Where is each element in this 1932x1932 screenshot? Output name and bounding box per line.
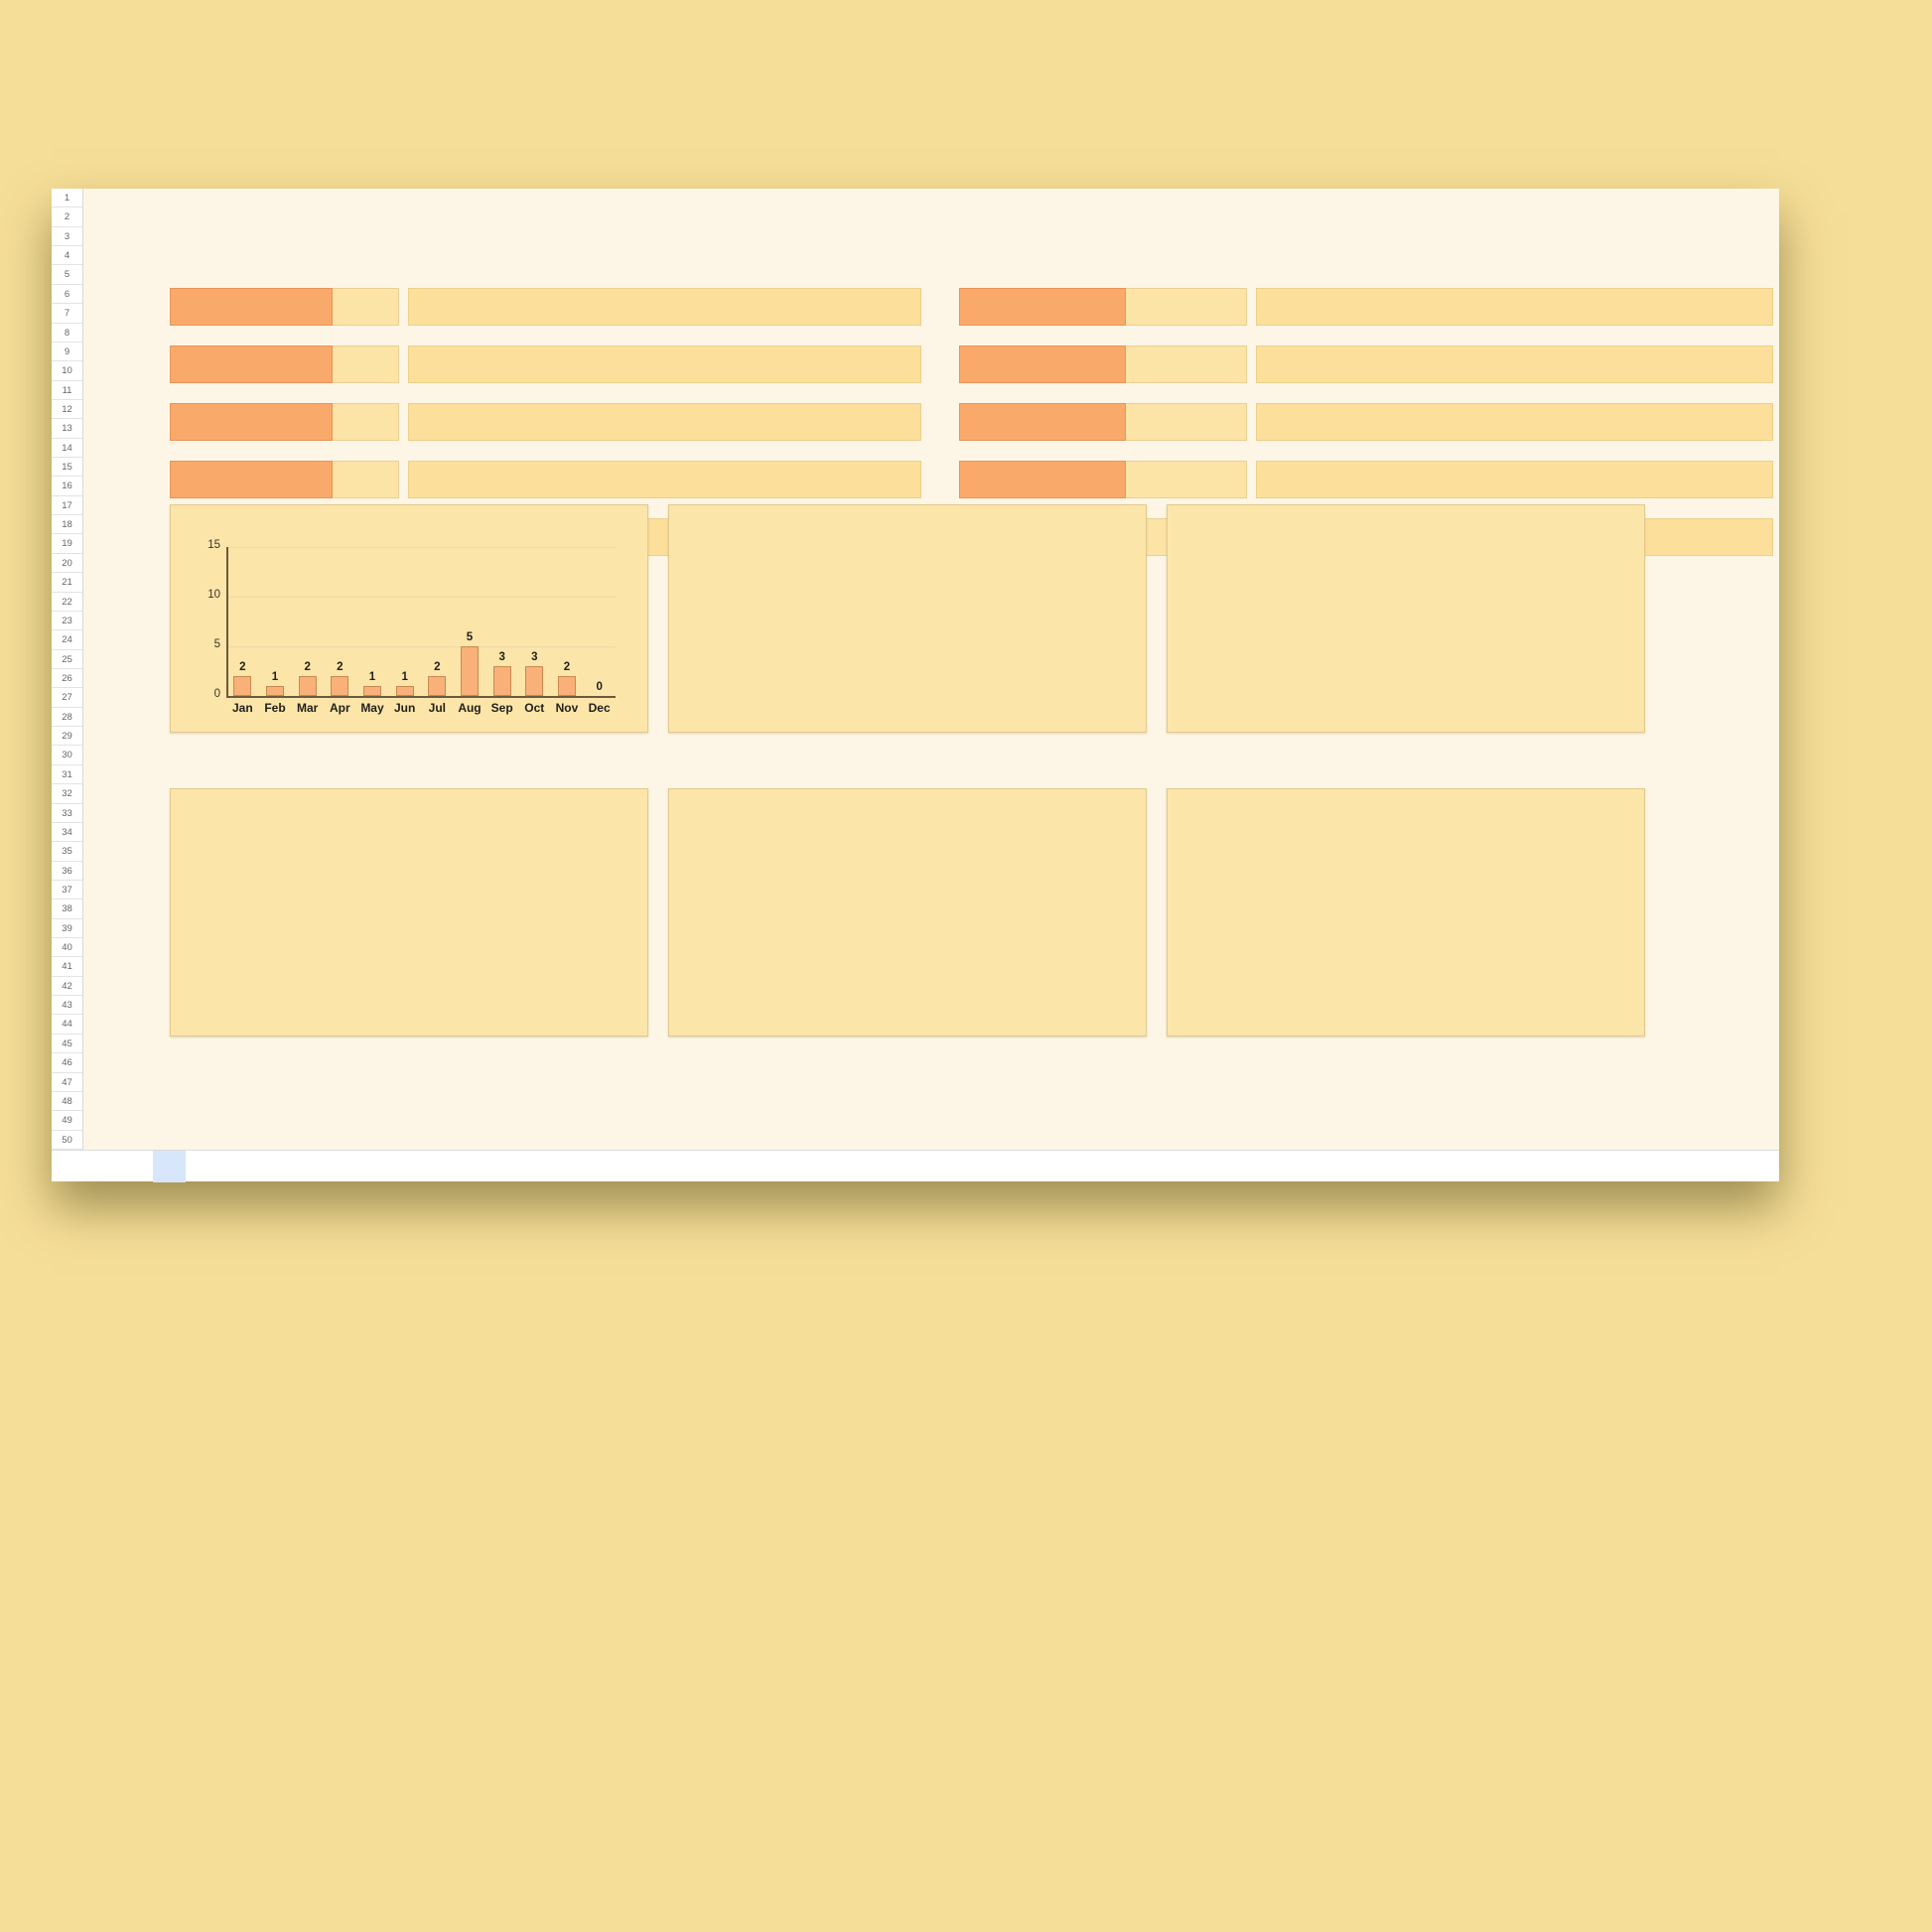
chart-card-formats [1167, 788, 1645, 1036]
row-header-45[interactable]: 45 [52, 1035, 82, 1053]
grid-line [226, 646, 616, 647]
row-header-12[interactable]: 12 [52, 400, 82, 419]
stat-value [333, 288, 399, 326]
stat-note [408, 288, 921, 326]
stat-note [1256, 288, 1773, 326]
row-header-19[interactable]: 19 [52, 534, 82, 553]
row-header-23[interactable]: 23 [52, 612, 82, 630]
stat-value [1126, 461, 1247, 498]
row-header-27[interactable]: 27 [52, 688, 82, 707]
stat-note [1256, 345, 1773, 383]
category-label: Dec [577, 701, 622, 715]
bar [525, 666, 543, 696]
row-header-3[interactable]: 3 [52, 227, 82, 246]
grid-line [226, 547, 616, 548]
grid-line [226, 597, 616, 598]
x-axis-line [226, 696, 616, 698]
row-header-20[interactable]: 20 [52, 554, 82, 573]
stat-row [959, 403, 1773, 441]
stat-label [959, 461, 1126, 498]
row-header-13[interactable]: 13 [52, 419, 82, 438]
stat-label [170, 461, 333, 498]
y-axis-tick: 15 [193, 539, 220, 551]
stat-row [170, 288, 921, 326]
stat-value [1126, 345, 1247, 383]
row-header-41[interactable]: 41 [52, 957, 82, 976]
stat-value [333, 403, 399, 441]
stat-note [1256, 461, 1773, 498]
row-header-4[interactable]: 4 [52, 246, 82, 265]
stat-note [1256, 403, 1773, 441]
row-header-29[interactable]: 29 [52, 727, 82, 746]
bar [331, 676, 348, 696]
row-header-47[interactable]: 47 [52, 1073, 82, 1092]
stat-value [1126, 288, 1247, 326]
stat-row [170, 403, 921, 441]
row-header-48[interactable]: 48 [52, 1092, 82, 1111]
bar [363, 686, 381, 696]
row-header-2[interactable]: 2 [52, 207, 82, 226]
stat-row [959, 345, 1773, 383]
row-header-49[interactable]: 49 [52, 1111, 82, 1130]
bar [428, 676, 446, 696]
row-header-31[interactable]: 31 [52, 765, 82, 784]
stat-row [959, 461, 1773, 498]
stat-label [959, 403, 1126, 441]
stat-label [170, 403, 333, 441]
row-header-32[interactable]: 32 [52, 784, 82, 803]
y-axis-tick: 5 [193, 638, 220, 650]
row-header-37[interactable]: 37 [52, 881, 82, 899]
sheet-tab-fanfic-log[interactable] [186, 1151, 218, 1182]
chart-card-chapter-heavy [668, 788, 1147, 1036]
row-header-25[interactable]: 25 [52, 650, 82, 669]
y-axis-line [226, 547, 228, 696]
row-header-15[interactable]: 15 [52, 458, 82, 477]
row-header-1[interactable]: 1 [52, 189, 82, 207]
row-header-24[interactable]: 24 [52, 630, 82, 649]
stat-label [170, 288, 333, 326]
row-header-6[interactable]: 6 [52, 285, 82, 304]
row-header-34[interactable]: 34 [52, 823, 82, 842]
stat-value [1126, 403, 1247, 441]
row-header-7[interactable]: 7 [52, 304, 82, 323]
stat-note [408, 345, 921, 383]
row-header-28[interactable]: 28 [52, 708, 82, 727]
row-header-39[interactable]: 39 [52, 919, 82, 938]
stat-label [170, 345, 333, 383]
row-header-18[interactable]: 18 [52, 515, 82, 534]
y-axis-tick: 0 [193, 688, 220, 700]
y-axis-tick: 10 [193, 589, 220, 601]
bar [299, 676, 317, 696]
stat-value [333, 345, 399, 383]
row-header-11[interactable]: 11 [52, 381, 82, 400]
bar [266, 686, 284, 696]
stat-value [333, 461, 399, 498]
stat-row [959, 288, 1773, 326]
chart-card-top-genres [170, 788, 648, 1036]
row-header-5[interactable]: 5 [52, 265, 82, 284]
sheet-tabs [153, 1151, 218, 1182]
row-header-43[interactable]: 43 [52, 996, 82, 1015]
row-header-16[interactable]: 16 [52, 477, 82, 495]
row-header-38[interactable]: 38 [52, 899, 82, 918]
row-header-50[interactable]: 50 [52, 1131, 82, 1150]
bar [493, 666, 511, 696]
row-header-40[interactable]: 40 [52, 938, 82, 957]
row-header-35[interactable]: 35 [52, 842, 82, 861]
bar-value-label: 2 [412, 661, 462, 673]
bar [233, 676, 251, 696]
bar-value-label: 0 [575, 681, 624, 693]
chart-card-wordcount [668, 504, 1147, 733]
row-header-33[interactable]: 33 [52, 804, 82, 823]
bar-value-label: 2 [542, 661, 592, 673]
row-header-42[interactable]: 42 [52, 977, 82, 996]
stat-label [959, 288, 1126, 326]
row-header-21[interactable]: 21 [52, 573, 82, 592]
add-sheet-icon[interactable] [73, 1151, 113, 1182]
sheet-canvas: 0510152Jan1Feb2Mar2Apr1May1Jun2Jul5Aug3S… [83, 189, 1779, 1150]
stat-row [170, 345, 921, 383]
row-header-10[interactable]: 10 [52, 361, 82, 380]
sheet-tab-dashboard[interactable] [153, 1151, 186, 1182]
row-header-46[interactable]: 46 [52, 1053, 82, 1072]
stat-row [170, 461, 921, 498]
row-header-14[interactable]: 14 [52, 439, 82, 458]
row-header-22[interactable]: 22 [52, 593, 82, 612]
stat-note [408, 403, 921, 441]
row-header-8[interactable]: 8 [52, 324, 82, 343]
sheet-tab-bar [52, 1150, 1779, 1181]
bar [558, 676, 576, 696]
row-header-26[interactable]: 26 [52, 669, 82, 688]
row-header-9[interactable]: 9 [52, 343, 82, 361]
chart-card-emotional-damage [1167, 504, 1645, 733]
stat-label [959, 345, 1126, 383]
chart-card-fanfics-read: 0510152Jan1Feb2Mar2Apr1May1Jun2Jul5Aug3S… [170, 504, 648, 733]
all-sheets-icon[interactable] [113, 1151, 153, 1182]
bar-value-label: 5 [445, 631, 494, 643]
row-header-17[interactable]: 17 [52, 496, 82, 515]
bar [461, 646, 479, 696]
bar [396, 686, 414, 696]
row-header-36[interactable]: 36 [52, 862, 82, 881]
stat-note [408, 461, 921, 498]
spreadsheet-window: 1234567891011121314151617181920212223242… [52, 189, 1779, 1181]
row-header-44[interactable]: 44 [52, 1015, 82, 1034]
row-header-30[interactable]: 30 [52, 746, 82, 764]
row-number-gutter[interactable]: 1234567891011121314151617181920212223242… [52, 189, 83, 1150]
